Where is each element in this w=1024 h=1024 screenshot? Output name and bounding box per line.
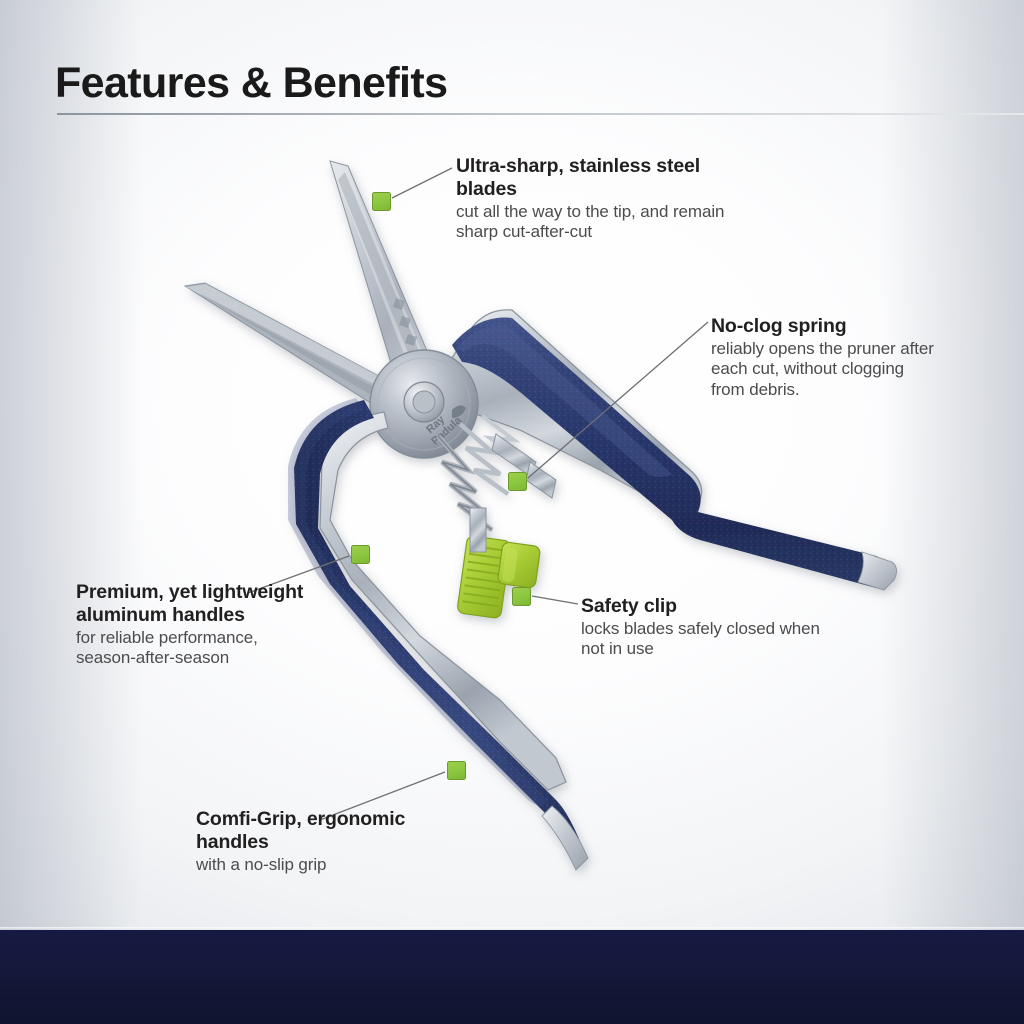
callout-blades-heading: Ultra-sharp, stainless steel blades	[456, 155, 726, 201]
callout-spring-heading: No-clog spring	[711, 315, 936, 338]
callout-aluminum: Premium, yet lightweight aluminum handle…	[76, 581, 316, 668]
callout-marker-safety[interactable]	[512, 587, 531, 606]
callout-safety-heading: Safety clip	[581, 595, 821, 618]
callout-blades: Ultra-sharp, stainless steel blades cut …	[456, 155, 726, 242]
bottom-brand-bar	[0, 930, 1024, 1024]
callout-marker-aluminum[interactable]	[351, 545, 370, 564]
callout-safety-body: locks blades safely closed when not in u…	[581, 619, 821, 660]
callout-spring: No-clog spring reliably opens the pruner…	[711, 315, 936, 400]
callout-comfi-heading: Comfi-Grip, ergonomic handles	[196, 808, 446, 854]
infographic-page: Features & Benefits	[0, 0, 1024, 1024]
safety-clip-part	[457, 535, 541, 618]
callout-marker-spring[interactable]	[508, 472, 527, 491]
callout-safety: Safety clip locks blades safely closed w…	[581, 595, 821, 660]
callout-marker-blades[interactable]	[372, 192, 391, 211]
product-image-pruner: Ray Padula	[0, 0, 1024, 1024]
callout-aluminum-body: for reliable performance, season-after-s…	[76, 628, 316, 669]
callout-spring-body: reliably opens the pruner after each cut…	[711, 339, 936, 400]
callout-comfi-body: with a no-slip grip	[196, 855, 446, 875]
callout-comfi: Comfi-Grip, ergonomic handles with a no-…	[196, 808, 446, 875]
callout-aluminum-heading: Premium, yet lightweight aluminum handle…	[76, 581, 316, 627]
callout-marker-comfi[interactable]	[447, 761, 466, 780]
callout-blades-body: cut all the way to the tip, and remain s…	[456, 202, 726, 243]
